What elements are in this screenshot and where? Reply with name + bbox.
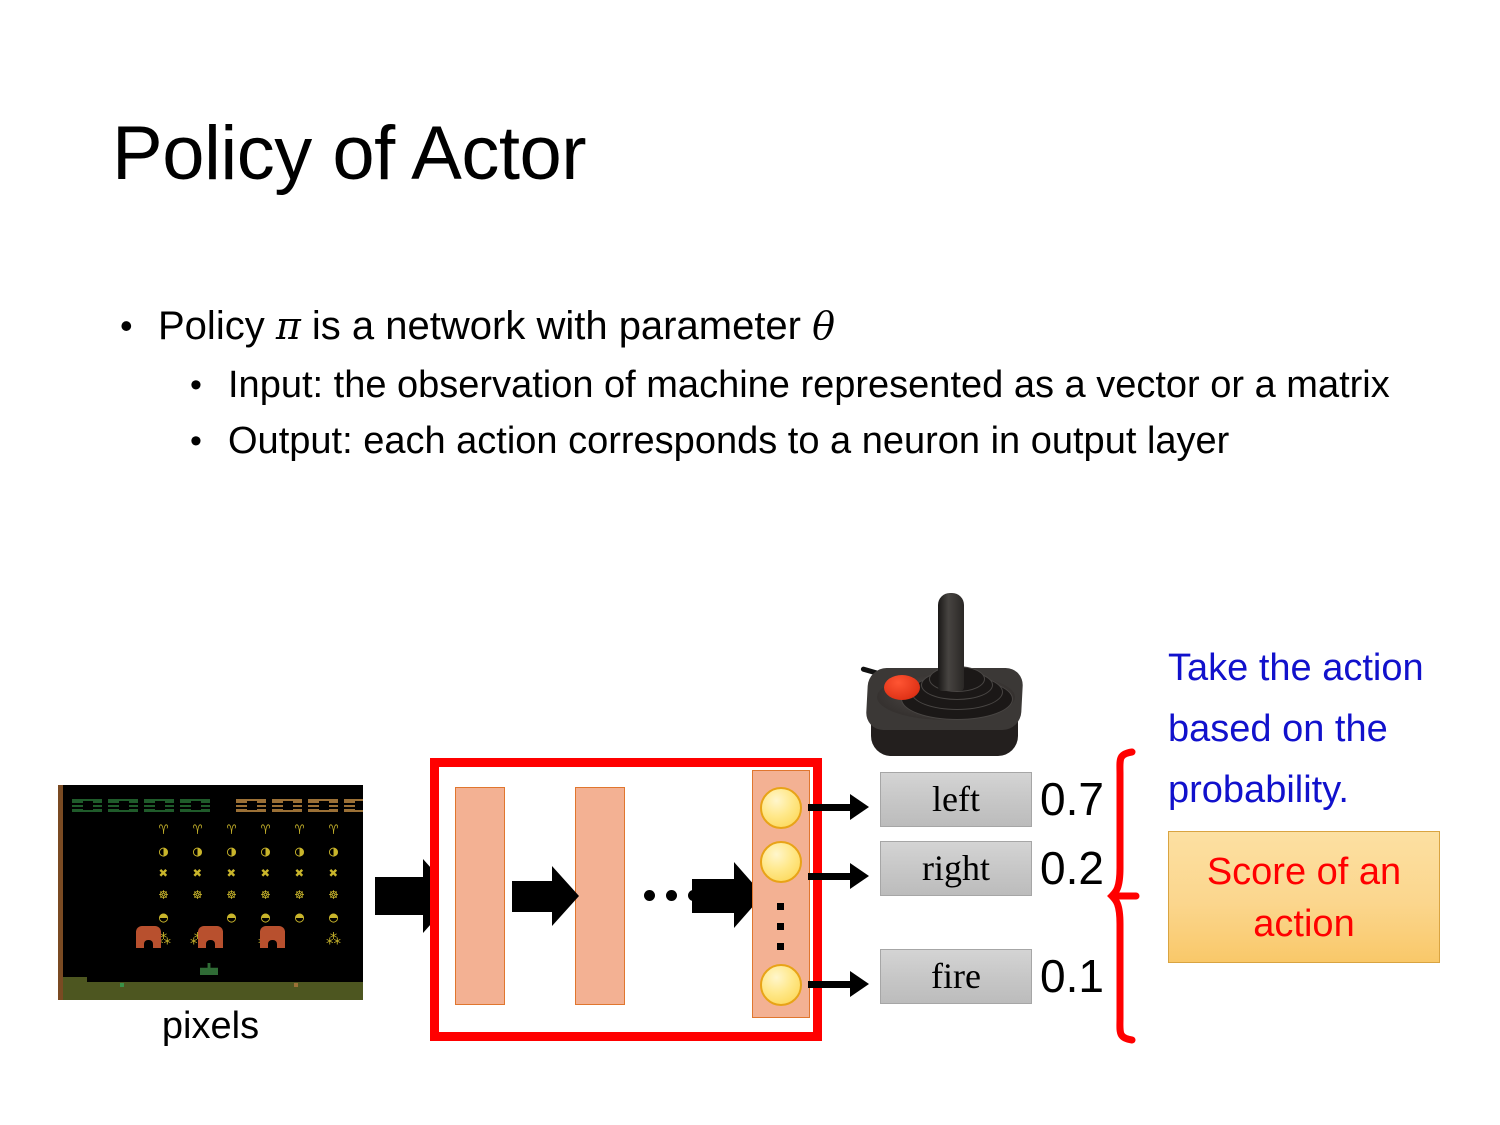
player-ship xyxy=(200,963,218,975)
score-of-action-box: Score of an action xyxy=(1168,831,1440,963)
alien-sprite: ♈ xyxy=(222,823,241,836)
score-block xyxy=(272,799,302,812)
score-block xyxy=(308,799,338,812)
vertical-ellipsis-dot xyxy=(777,943,784,950)
bullet-level1: Policy π is a network with parameter θ xyxy=(112,300,1412,352)
joystick-stick[interactable] xyxy=(938,593,964,691)
alien-sprite: ☸ xyxy=(188,889,207,902)
vertical-ellipsis-dot xyxy=(777,903,784,910)
bullet-list: Policy π is a network with parameter θ I… xyxy=(112,300,1412,472)
ground-dot xyxy=(294,983,298,987)
probability-right: 0.2 xyxy=(1040,841,1104,896)
alien-sprite: ✖ xyxy=(324,867,343,880)
hidden-layer-2 xyxy=(575,787,625,1005)
action-box-fire[interactable]: fire xyxy=(880,949,1032,1004)
bullet-text-mid: is a network with parameter xyxy=(301,304,812,348)
score-block xyxy=(344,799,363,812)
ground-strip xyxy=(63,982,363,1000)
hidden-layer-1 xyxy=(455,787,505,1005)
alien-sprite: ◑ xyxy=(222,845,241,858)
alien-sprite: ☸ xyxy=(324,889,343,902)
alien-sprite: ⁂ xyxy=(324,933,343,946)
alien-sprite: ◑ xyxy=(256,845,275,858)
alien-sprite: ✖ xyxy=(256,867,275,880)
output-neuron-right xyxy=(760,841,802,883)
alien-sprite: ◑ xyxy=(154,845,173,858)
shield xyxy=(136,926,161,948)
alien-sprite: ✖ xyxy=(154,867,173,880)
action-box-left[interactable]: left xyxy=(880,772,1032,827)
alien-sprite: ◓ xyxy=(324,911,343,924)
alien-sprite: ✖ xyxy=(222,867,241,880)
alien-sprite: ◓ xyxy=(290,911,309,924)
score-block xyxy=(236,799,266,812)
space-invaders-screenshot: ♈♈♈♈♈♈◑◑◑◑◑◑✖✖✖✖✖✖☸☸☸☸☸☸◓◓◓◓◓⁂⁂⁂⁂ xyxy=(58,785,363,1000)
alien-sprite: ◑ xyxy=(324,845,343,858)
alien-sprite: ♈ xyxy=(324,823,343,836)
alien-sprite: ♈ xyxy=(188,823,207,836)
pi-symbol: π xyxy=(276,304,301,348)
alien-sprite: ☸ xyxy=(256,889,275,902)
output-neuron-fire xyxy=(760,964,802,1006)
alien-sprite: ◓ xyxy=(256,911,275,924)
bullet-input: Input: the observation of machine repres… xyxy=(112,360,1408,410)
alien-sprite: ♈ xyxy=(290,823,309,836)
bullet-output: Output: each action corresponds to a neu… xyxy=(112,416,1408,466)
alien-sprite: ♈ xyxy=(256,823,275,836)
probability-fire: 0.1 xyxy=(1040,949,1104,1004)
shield xyxy=(260,926,285,948)
screen-left-border xyxy=(58,785,63,1000)
joystick-fire-button[interactable] xyxy=(884,675,920,700)
vertical-ellipsis-dot xyxy=(777,923,784,930)
page-title: Policy of Actor xyxy=(112,110,586,197)
curly-brace-icon xyxy=(1096,748,1156,1044)
alien-sprite: ♈ xyxy=(154,823,173,836)
alien-sprite: ◓ xyxy=(222,911,241,924)
alien-sprite: ◓ xyxy=(154,911,173,924)
shield xyxy=(198,926,223,948)
score-block xyxy=(72,799,102,812)
ground-dot xyxy=(120,983,124,987)
alien-sprite: ☸ xyxy=(290,889,309,902)
input-label: pixels xyxy=(58,1005,363,1048)
output-neuron-left xyxy=(760,787,802,829)
score-block xyxy=(108,799,138,812)
alien-sprite: ◑ xyxy=(290,845,309,858)
atari-joystick-image xyxy=(855,588,1040,763)
take-action-note: Take the action based on the probability… xyxy=(1168,638,1480,821)
alien-sprite: ✖ xyxy=(188,867,207,880)
probability-left: 0.7 xyxy=(1040,772,1104,827)
alien-sprite: ☸ xyxy=(222,889,241,902)
bullet-text-pre: Policy xyxy=(158,304,276,348)
score-block xyxy=(180,799,210,812)
action-box-right[interactable]: right xyxy=(880,841,1032,896)
alien-sprite: ◑ xyxy=(188,845,207,858)
alien-sprite: ☸ xyxy=(154,889,173,902)
score-block xyxy=(144,799,174,812)
theta-symbol: θ xyxy=(812,304,835,348)
alien-sprite: ✖ xyxy=(290,867,309,880)
